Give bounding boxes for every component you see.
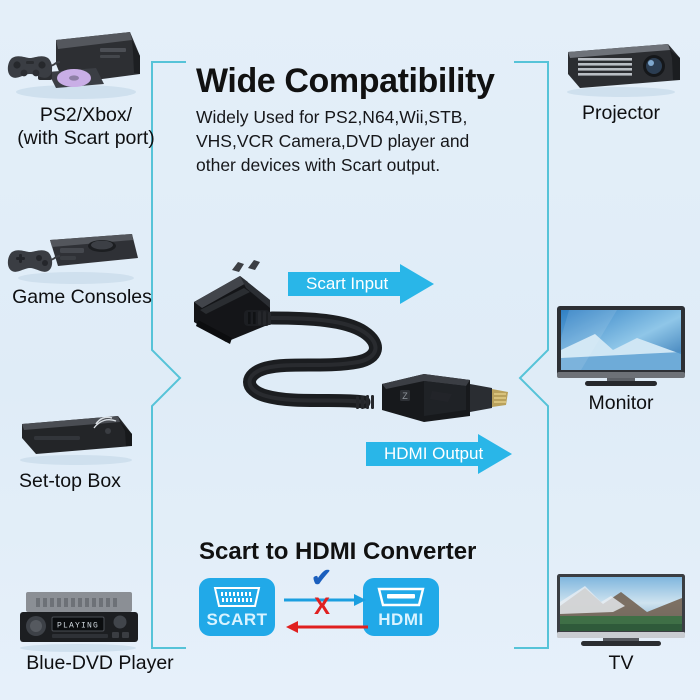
hdmi-port-label: HDMI [378, 610, 423, 630]
dvd-display-text: PLAYING [57, 622, 99, 631]
display-label-projector: Projector [548, 102, 694, 125]
source-label-game-consoles: Game Consoles [0, 286, 164, 309]
scart-port-box: SCART [199, 578, 275, 636]
banner-hdmi-output: HDMI Output [366, 434, 512, 474]
banner-scart-input: Scart Input [288, 264, 434, 304]
infographic-canvas: Wide Compatibility Widely Used for PS2,N… [0, 0, 700, 700]
subtitle-line-3: other devices with Scart output. [196, 153, 526, 177]
cross-mark-icon: X [314, 595, 330, 619]
source-label-set-top-box: Set-top Box [0, 470, 140, 493]
source-label-ps2-xbox: PS2/Xbox/ (with Scart port) [0, 104, 172, 150]
banner-hdmi-output-label: HDMI Output [366, 434, 483, 474]
hdmi-port-icon [375, 585, 427, 609]
tv-icon [551, 572, 691, 648]
svg-text:Z: Z [402, 391, 408, 401]
source-label-line-1: PS2/Xbox/ [0, 104, 172, 127]
source-label-line-1: Set-top Box [0, 470, 140, 493]
retro-console-icon [6, 218, 144, 284]
source-label-line-2: (with Scart port) [0, 127, 172, 150]
source-label-line-1: Game Consoles [0, 286, 164, 309]
monitor-icon [551, 304, 691, 386]
banner-scart-input-label: Scart Input [288, 264, 388, 304]
source-label-blue-dvd-player: Blue-DVD Player [0, 652, 200, 675]
scart-port-label: SCART [206, 610, 267, 630]
page-subtitle: Widely Used for PS2,N64,Wii,STB, VHS,VCR… [196, 105, 526, 177]
set-top-box-icon [8, 404, 142, 466]
source-label-line-1: Blue-DVD Player [0, 652, 200, 675]
scart-connector-icon [194, 260, 270, 344]
page-title: Wide Compatibility [196, 62, 495, 101]
hdmi-port-box: HDMI [363, 578, 439, 636]
scart-port-icon [211, 585, 263, 609]
subtitle-line-2: VHS,VCR Camera,DVD player and [196, 129, 526, 153]
subtitle-line-1: Widely Used for PS2,N64,Wii,STB, [196, 105, 526, 129]
check-mark-icon: ✔ [311, 566, 332, 591]
hdmi-connector-icon: Z [382, 374, 508, 422]
dvd-player-icon: PLAYING [8, 586, 148, 652]
game-console-ps2-icon [4, 22, 144, 100]
converter-title: Scart to HDMI Converter [199, 538, 476, 566]
display-label-monitor: Monitor [548, 392, 694, 415]
projector-icon [556, 36, 686, 98]
display-label-tv: TV [548, 652, 694, 675]
